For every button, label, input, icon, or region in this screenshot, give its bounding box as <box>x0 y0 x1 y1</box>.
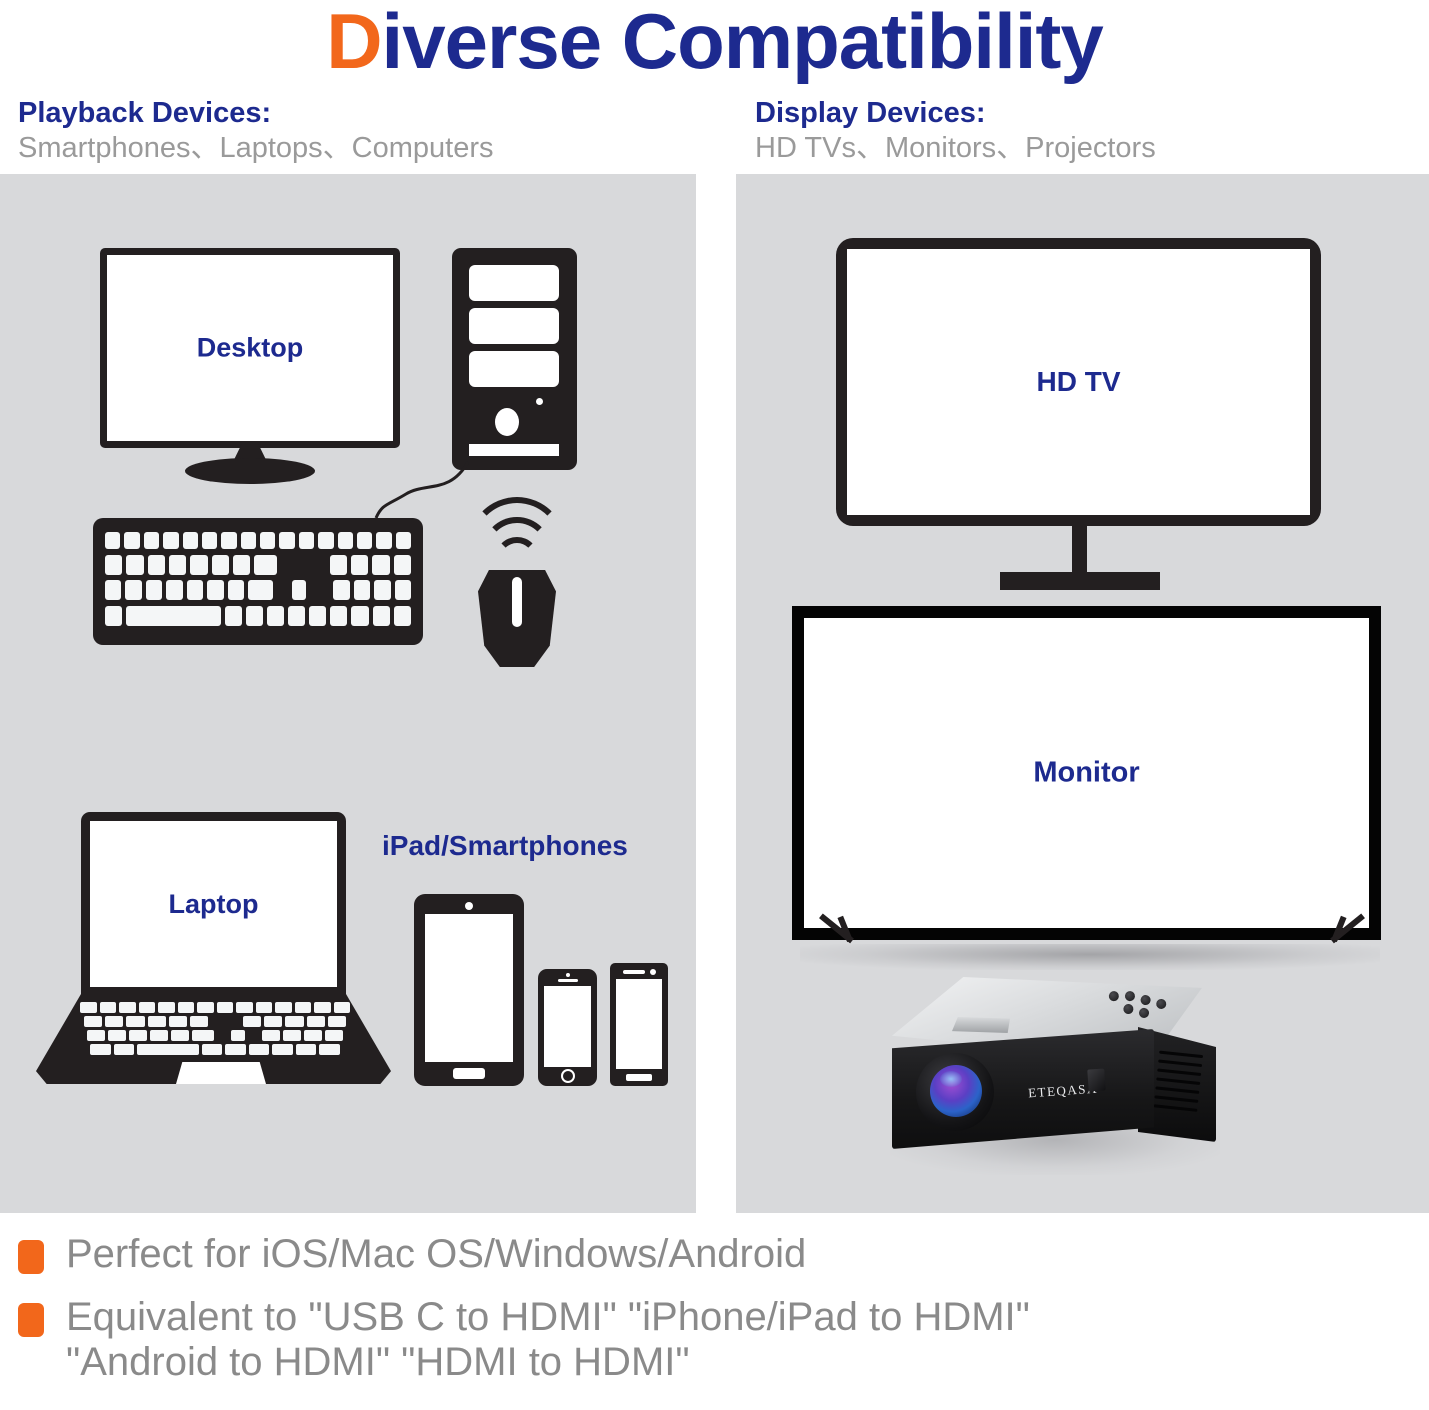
tower-drive-bay <box>469 308 559 344</box>
tower-pc-illustration <box>452 248 577 470</box>
title-accent-letter: D <box>326 0 381 85</box>
tablet-screen <box>425 914 513 1062</box>
desktop-monitor-illustration: Desktop <box>100 248 400 448</box>
laptop-illustration: Laptop <box>36 812 391 1084</box>
mouse-scroll-wheel <box>512 577 522 627</box>
projector-illustration: ETEQASA <box>880 965 1230 1185</box>
android-screen <box>616 979 662 1069</box>
bullet-marker-icon <box>18 1303 44 1337</box>
keyboard-row <box>105 555 411 575</box>
projector-focus-dial <box>952 1017 1010 1033</box>
tablet-home-button <box>453 1068 485 1079</box>
power-button-icon <box>495 408 519 436</box>
hdtv-label: HD TV <box>836 366 1321 398</box>
list-item: Perfect for iOS/Mac OS/Windows/Android <box>0 1232 1429 1277</box>
iphone-home-button <box>561 1069 575 1083</box>
tower-led-icon <box>536 398 543 405</box>
playback-devices-heading: Playback Devices: <box>18 96 494 130</box>
hdtv-stand-base <box>1000 572 1160 590</box>
desktop-monitor-base <box>185 458 315 484</box>
tablet-camera-icon <box>465 902 473 910</box>
keyboard-row <box>105 532 411 549</box>
laptop-trackpad <box>176 1062 266 1084</box>
mobile-devices-label: iPad/Smartphones <box>382 830 628 862</box>
keyboard-cable <box>340 460 470 520</box>
android-speaker <box>623 970 645 974</box>
bullet-text: Perfect for iOS/Mac OS/Windows/Android <box>66 1232 806 1277</box>
iphone-camera-icon <box>566 973 570 977</box>
display-devices-heading: Display Devices: <box>755 96 1156 130</box>
iphone-illustration <box>538 969 597 1086</box>
bullet-text: Equivalent to "USB C to HDMI" "iPhone/iP… <box>66 1295 1030 1385</box>
projector-vent <box>1153 1049 1210 1120</box>
iphone-screen <box>544 986 591 1067</box>
projector-ir-sensor-icon <box>1087 1068 1105 1091</box>
monitor-foot-left <box>812 938 854 973</box>
bullet-marker-icon <box>18 1240 44 1274</box>
page-title: Diverse Compatibility <box>0 0 1429 87</box>
hdtv-illustration: HD TV <box>836 238 1321 526</box>
desktop-label: Desktop <box>100 333 400 364</box>
laptop-keyboard-row <box>84 1016 346 1027</box>
monitor-label: Monitor <box>792 757 1381 790</box>
wireless-mouse-illustration <box>462 497 572 667</box>
android-phone-illustration <box>610 963 668 1086</box>
monitor-foot-right <box>1330 938 1372 973</box>
keyboard-row <box>105 580 411 600</box>
iphone-speaker <box>558 979 578 982</box>
tower-drive-bay <box>469 351 559 387</box>
laptop-keyboard <box>80 1002 350 1057</box>
android-camera-icon <box>650 969 656 975</box>
keyboard-row <box>105 606 411 626</box>
display-devices-subtitle: HD TVs、Monitors、Projectors <box>755 130 1156 166</box>
playback-devices-subtitle: Smartphones、Laptops、Computers <box>18 130 494 166</box>
android-home-bar <box>626 1074 652 1081</box>
display-devices-header: Display Devices: HD TVs、Monitors、Project… <box>755 96 1156 166</box>
playback-devices-header: Playback Devices: Smartphones、Laptops、Co… <box>18 96 494 166</box>
monitor-illustration: Monitor <box>792 606 1381 940</box>
laptop-label: Laptop <box>90 821 337 987</box>
laptop-keyboard-row <box>87 1030 343 1041</box>
projector-lens-glint <box>940 1071 962 1087</box>
title-rest: iverse Compatibility <box>382 0 1103 85</box>
keyboard-illustration <box>93 518 423 645</box>
laptop-keyboard-row <box>80 1002 350 1013</box>
tower-vent <box>469 444 559 456</box>
laptop-keyboard-row <box>90 1044 340 1055</box>
tablet-illustration <box>414 894 524 1086</box>
feature-bullet-list: Perfect for iOS/Mac OS/Windows/Android E… <box>0 1232 1429 1402</box>
list-item: Equivalent to "USB C to HDMI" "iPhone/iP… <box>0 1295 1429 1385</box>
tower-drive-bay <box>469 265 559 301</box>
